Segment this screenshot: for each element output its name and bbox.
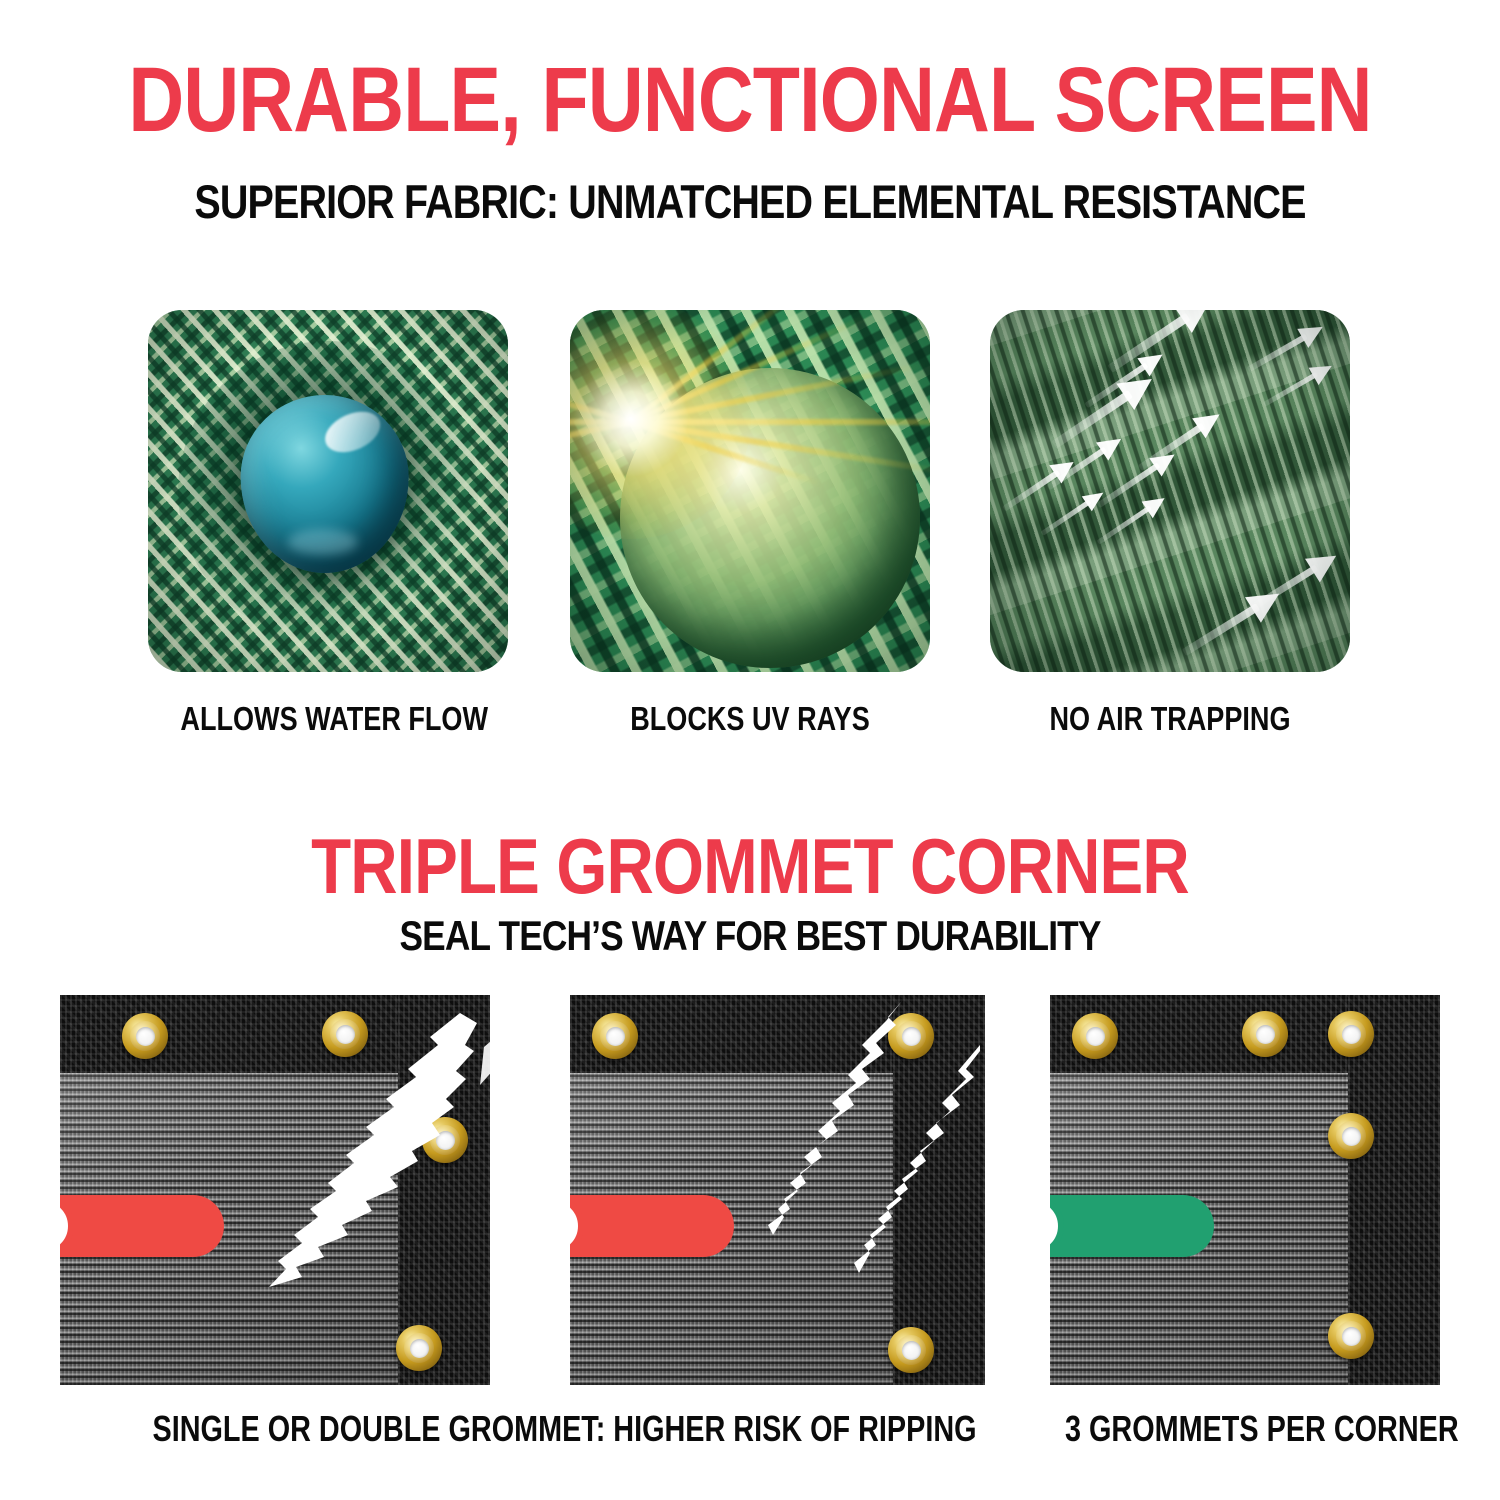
grommet-section-headline: TRIPLE GROMMET CORNER (120, 824, 1380, 908)
feature-tile-water-flow (148, 310, 508, 672)
brass-grommet-icon (1072, 1013, 1118, 1059)
feature-caption-uv-rays: BLOCKS UV RAYS (602, 700, 897, 738)
status-badge-negative (60, 1195, 224, 1257)
grommet-panel-triple (1050, 995, 1440, 1385)
x-mark-icon (570, 1195, 584, 1257)
fabric-rip-tear (60, 995, 490, 1385)
grommet-panel-single (60, 995, 490, 1385)
status-badge-positive (1050, 1195, 1214, 1257)
grommet-caption-risk: SINGLE OR DOUBLE GROMMET: HIGHER RISK OF… (153, 1408, 893, 1450)
grommet-section-subtitle: SEAL TECH’S WAY FOR BEST DURABILITY (120, 912, 1380, 960)
brass-grommet-icon (1328, 1011, 1374, 1057)
fabric-section-headline: DURABLE, FUNCTIONAL SCREEN (120, 52, 1380, 148)
brass-grommet-icon (1328, 1313, 1374, 1359)
fabric-rip-tear-group (570, 995, 985, 1385)
brass-grommet-icon (1328, 1113, 1374, 1159)
check-mark-icon (1050, 1195, 1064, 1257)
brass-grommet-icon (1242, 1011, 1288, 1057)
feature-caption-water-flow: ALLOWS WATER FLOW (180, 700, 475, 738)
infographic-root: DURABLE, FUNCTIONAL SCREEN SUPERIOR FABR… (0, 0, 1500, 1500)
feature-caption-air-trapping: NO AIR TRAPPING (1022, 700, 1317, 738)
fabric-section-subtitle: SUPERIOR FABRIC: UNMATCHED ELEMENTAL RES… (120, 176, 1380, 228)
x-mark-icon (60, 1195, 74, 1257)
status-badge-negative (570, 1195, 734, 1257)
grommet-panel-double (570, 995, 985, 1385)
feature-tile-uv-rays (570, 310, 930, 672)
feature-tile-air-trapping (990, 310, 1350, 672)
grommet-caption-triple: 3 GROMMETS PER CORNER (1065, 1408, 1425, 1450)
